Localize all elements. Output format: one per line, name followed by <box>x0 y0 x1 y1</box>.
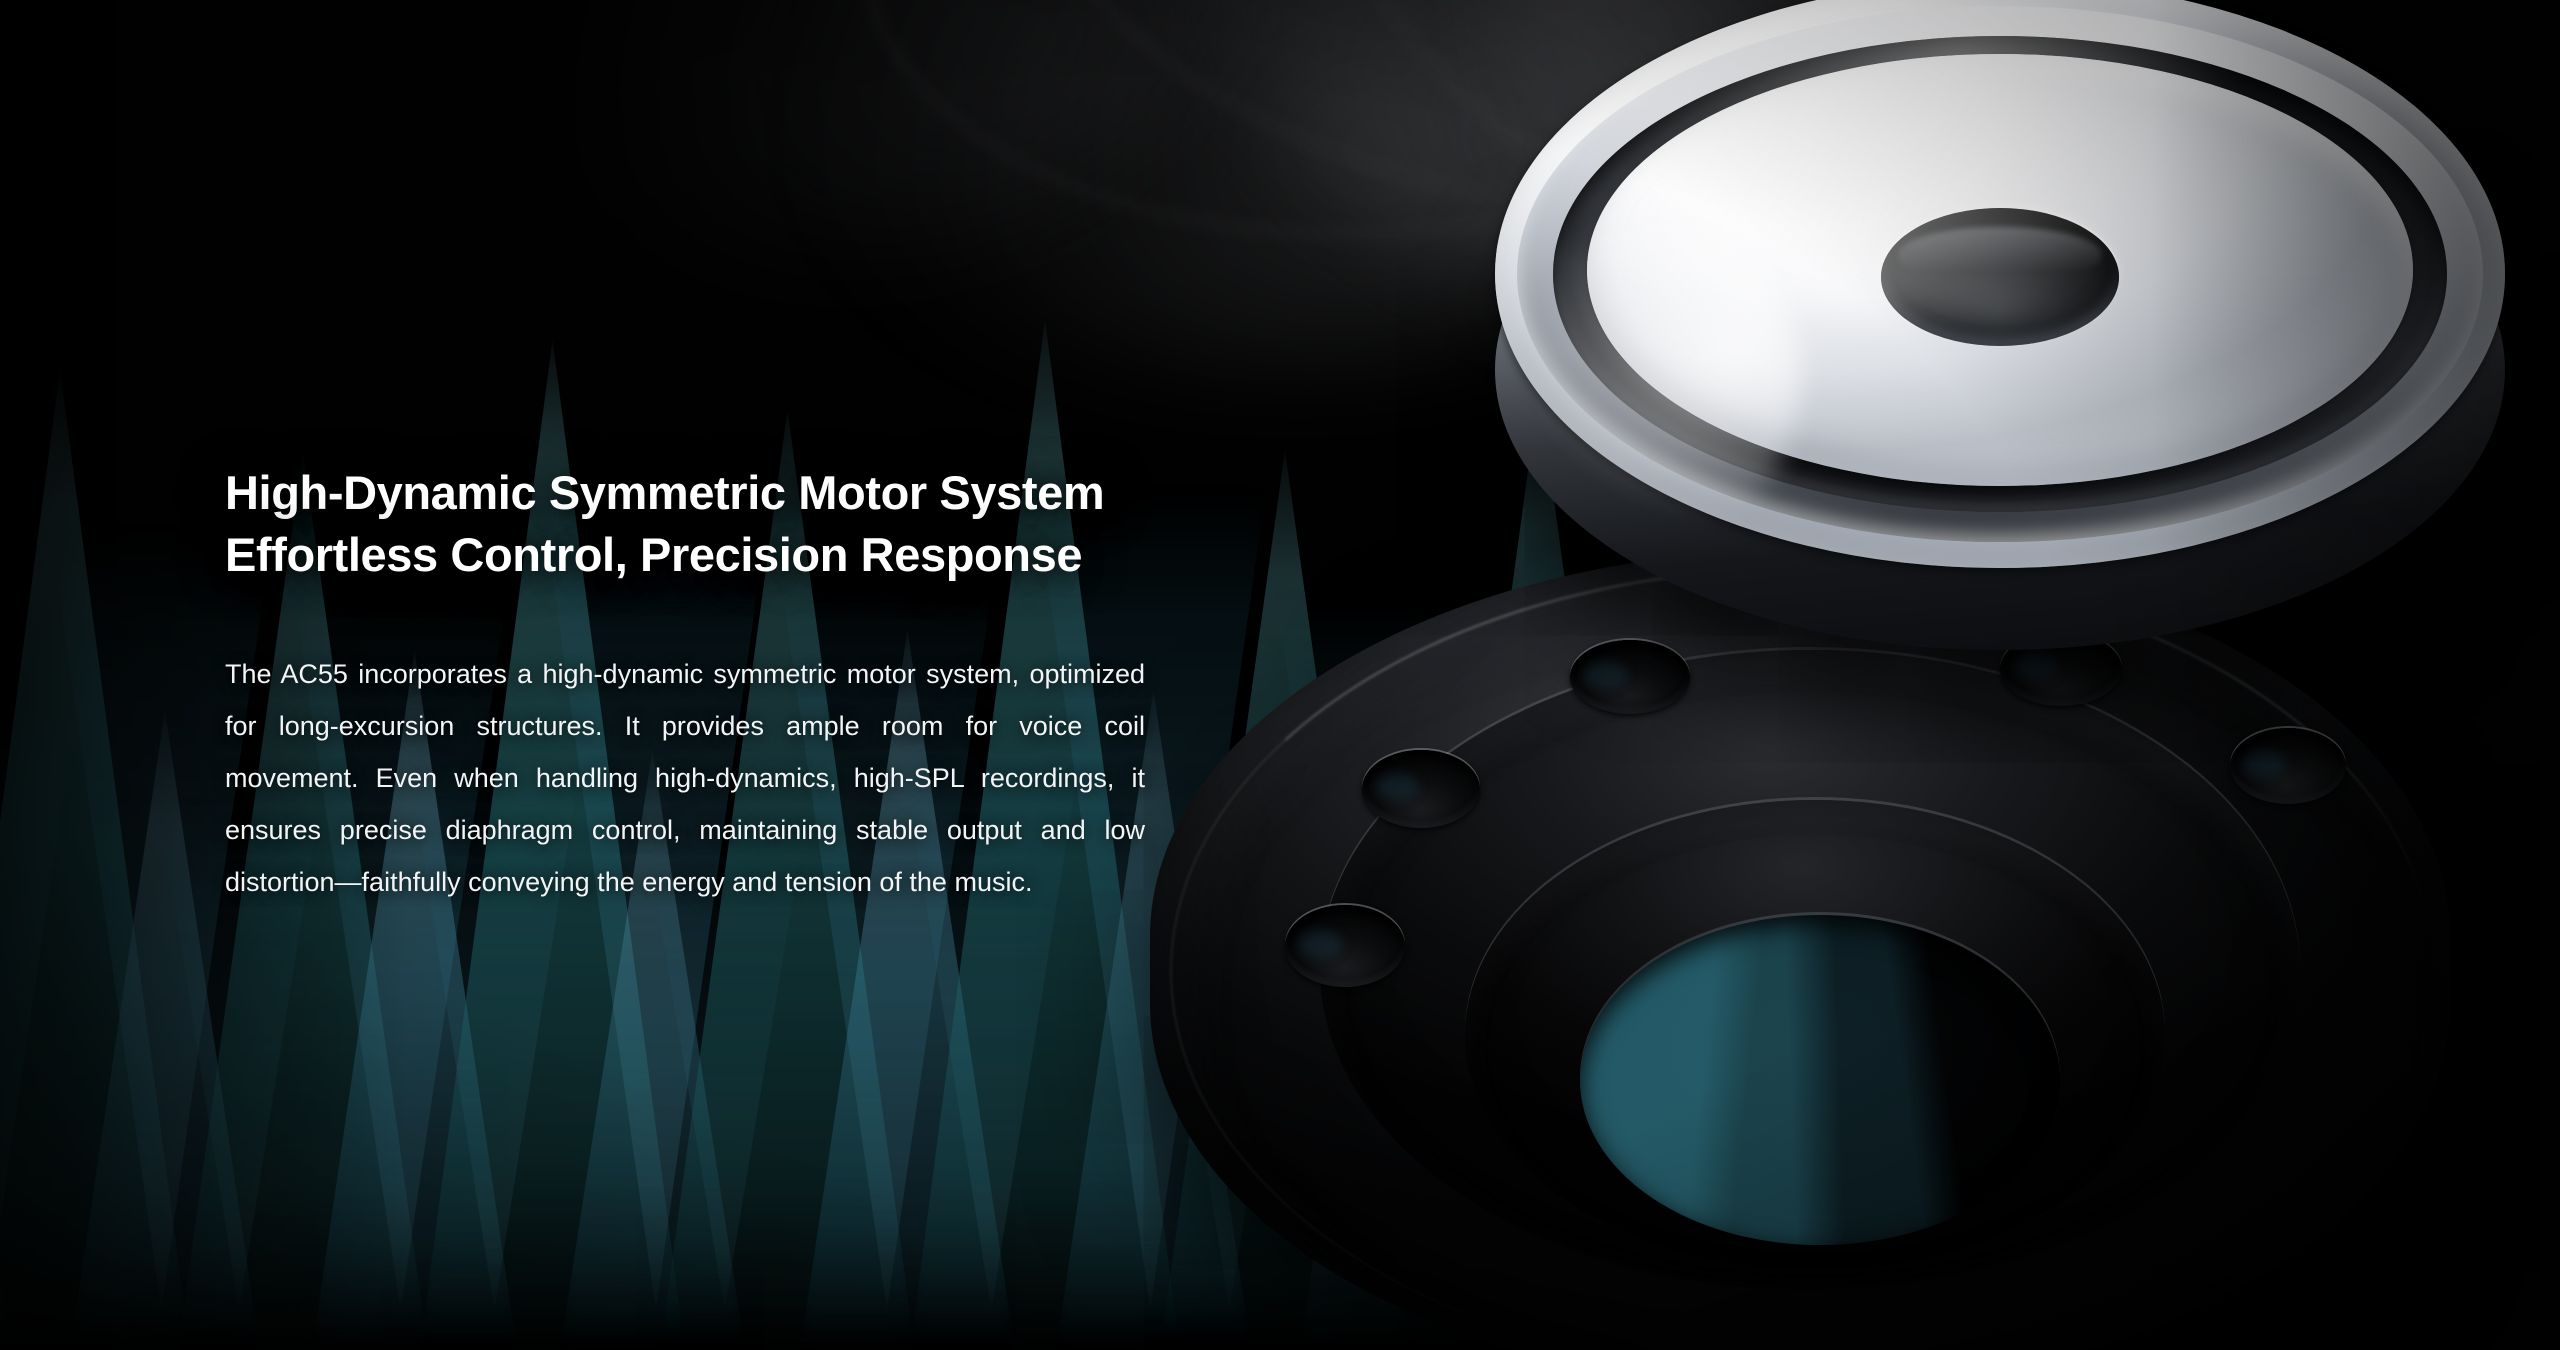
page-title: High-Dynamic Symmetric Motor System Effo… <box>225 462 1150 586</box>
hero-description-text: The AC55 incorporates a high-dynamic sym… <box>225 648 1145 908</box>
center-aperture <box>1580 915 2060 1245</box>
bolt-hole <box>1285 905 1405 987</box>
center-pole-hole <box>1881 208 2119 346</box>
hero-stage: High-Dynamic Symmetric Motor System Effo… <box>0 0 2560 1350</box>
bolt-hole <box>1362 750 1480 828</box>
headline-line-2: Effortless Control, Precision Response <box>225 524 1150 586</box>
loudspeaker-motor-assembly <box>1070 0 2560 1350</box>
chrome-magnet-top-plate <box>1495 0 2505 680</box>
bolt-hole <box>2230 728 2346 804</box>
hero-copy-block: High-Dynamic Symmetric Motor System Effo… <box>225 462 1150 908</box>
headline-line-1: High-Dynamic Symmetric Motor System <box>225 462 1150 524</box>
hero-description: The AC55 incorporates a high-dynamic sym… <box>225 648 1145 908</box>
